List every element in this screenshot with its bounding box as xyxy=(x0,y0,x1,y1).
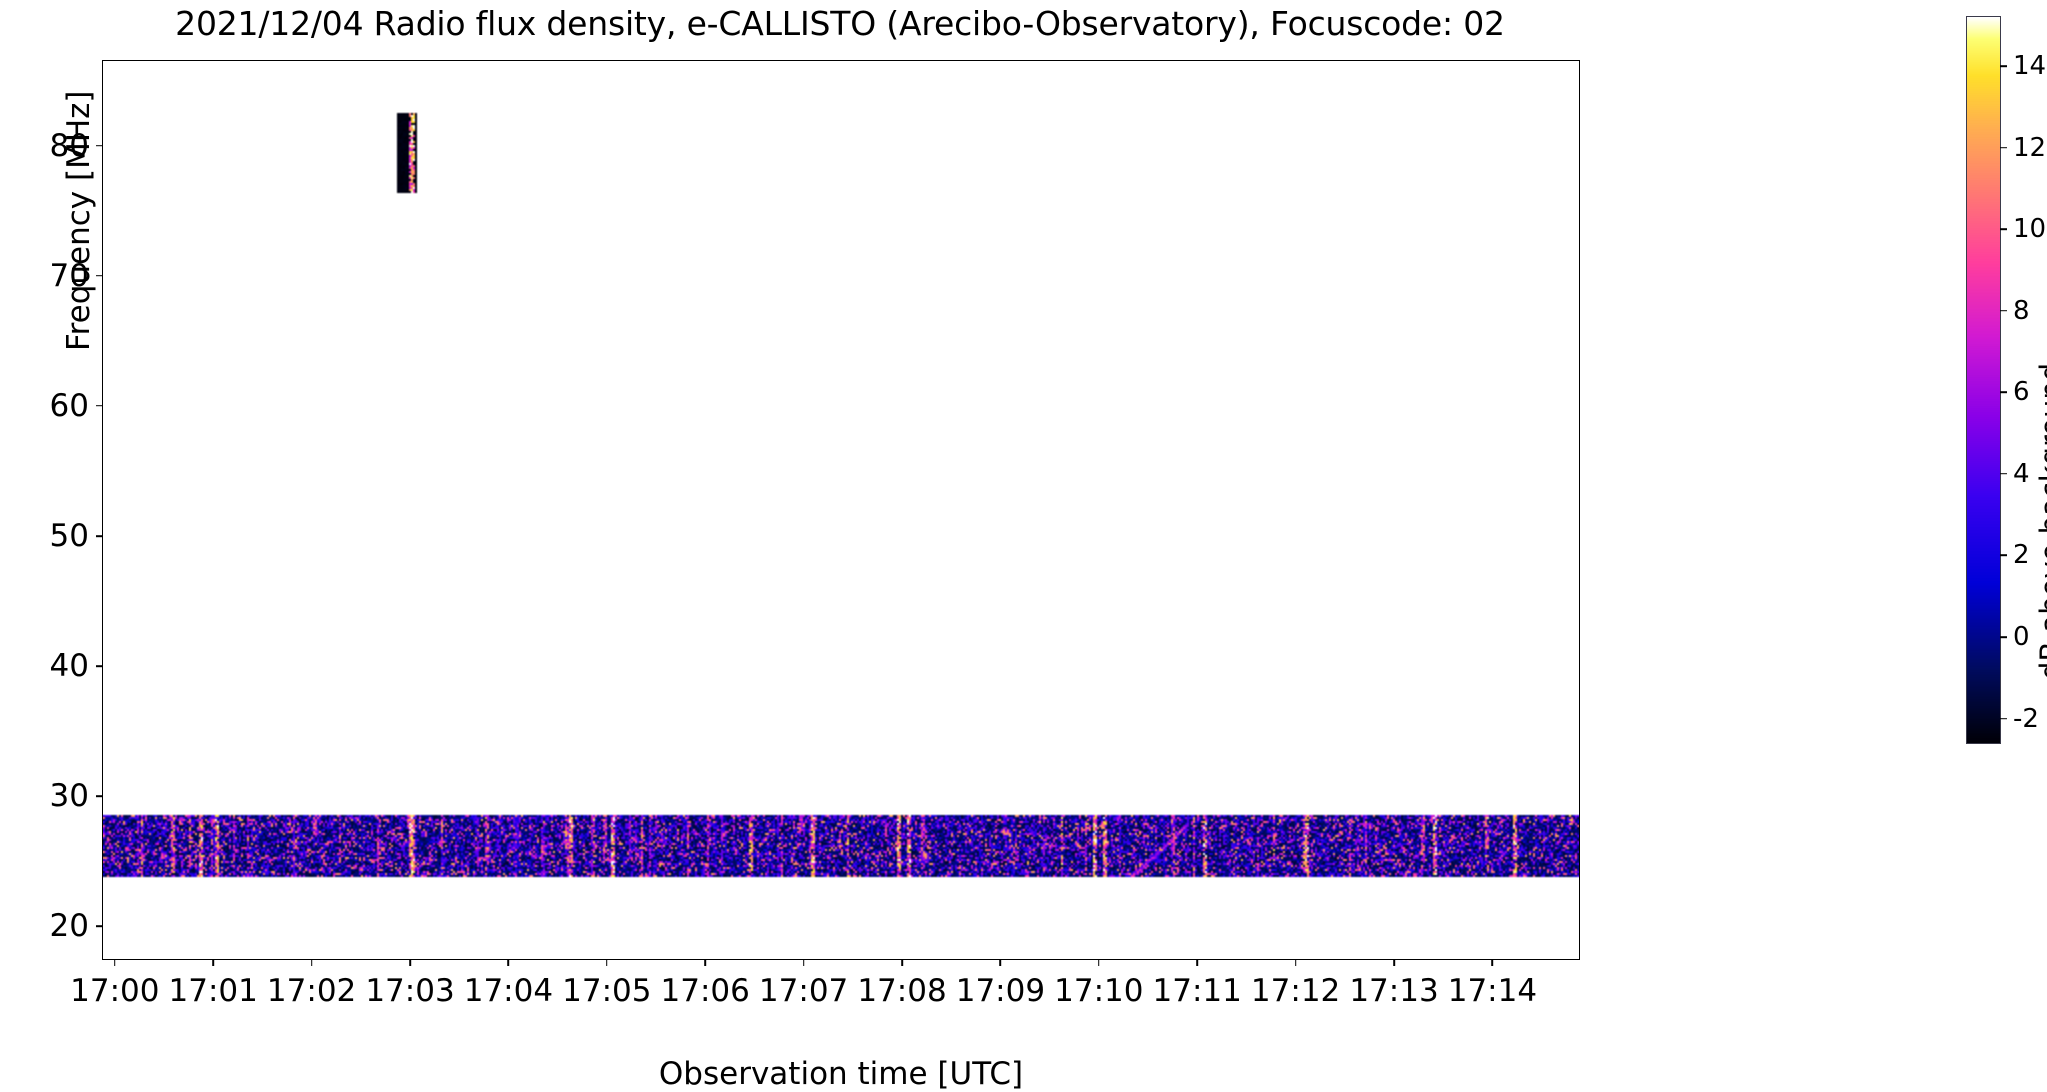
x-tick-label: 17:05 xyxy=(562,959,651,1009)
colorbar-gradient xyxy=(1967,17,2000,743)
colorbar-tick-label: 6 xyxy=(2000,377,2030,407)
x-tick-label: 17:14 xyxy=(1448,959,1537,1009)
page-title: 2021/12/04 Radio flux density, e-CALLIST… xyxy=(102,4,1578,43)
y-tick-label: 40 xyxy=(50,648,103,684)
y-tick-label: 60 xyxy=(50,388,103,424)
x-tick-label: 17:04 xyxy=(464,959,553,1009)
x-tick-label: 17:00 xyxy=(70,959,159,1009)
colorbar-tick-label: -2 xyxy=(2000,704,2039,734)
y-tick-label: 80 xyxy=(50,128,103,164)
x-tick-label: 17:01 xyxy=(169,959,258,1009)
x-axis-label: Observation time [UTC] xyxy=(103,1056,1579,1092)
x-tick-label: 17:06 xyxy=(661,959,750,1009)
colorbar-tick-label: 14 xyxy=(2000,51,2046,81)
spectrogram-axes: Frequency [MHz] 80706050403020 Observati… xyxy=(102,60,1580,960)
colorbar-tick-label: 8 xyxy=(2000,296,2030,326)
colorbar-tick-label: 10 xyxy=(2000,214,2046,244)
spectrogram-heatmap xyxy=(103,61,1579,959)
y-tick-label: 70 xyxy=(50,258,103,294)
x-tick-label: 17:10 xyxy=(1054,959,1143,1009)
colorbar-tick-label: 2 xyxy=(2000,540,2030,570)
x-tick-label: 17:12 xyxy=(1251,959,1340,1009)
colorbar-tick-label: 0 xyxy=(2000,622,2030,652)
y-tick-label: 20 xyxy=(50,908,103,944)
x-tick-label: 17:03 xyxy=(365,959,454,1009)
x-tick-label: 17:09 xyxy=(956,959,1045,1009)
x-tick-label: 17:08 xyxy=(857,959,946,1009)
colorbar-tick-label: 12 xyxy=(2000,133,2046,163)
x-tick-label: 17:02 xyxy=(267,959,356,1009)
spectrogram-figure: 2021/12/04 Radio flux density, e-CALLIST… xyxy=(0,0,2047,1067)
x-tick-label: 17:13 xyxy=(1349,959,1438,1009)
colorbar: -202468101214 xyxy=(1966,16,2001,744)
x-tick-label: 17:07 xyxy=(759,959,848,1009)
colorbar-tick-label: 4 xyxy=(2000,459,2030,489)
colorbar-label: dB above background xyxy=(2034,363,2047,680)
x-tick-label: 17:11 xyxy=(1153,959,1242,1009)
y-tick-label: 50 xyxy=(50,518,103,554)
y-tick-label: 30 xyxy=(50,778,103,814)
